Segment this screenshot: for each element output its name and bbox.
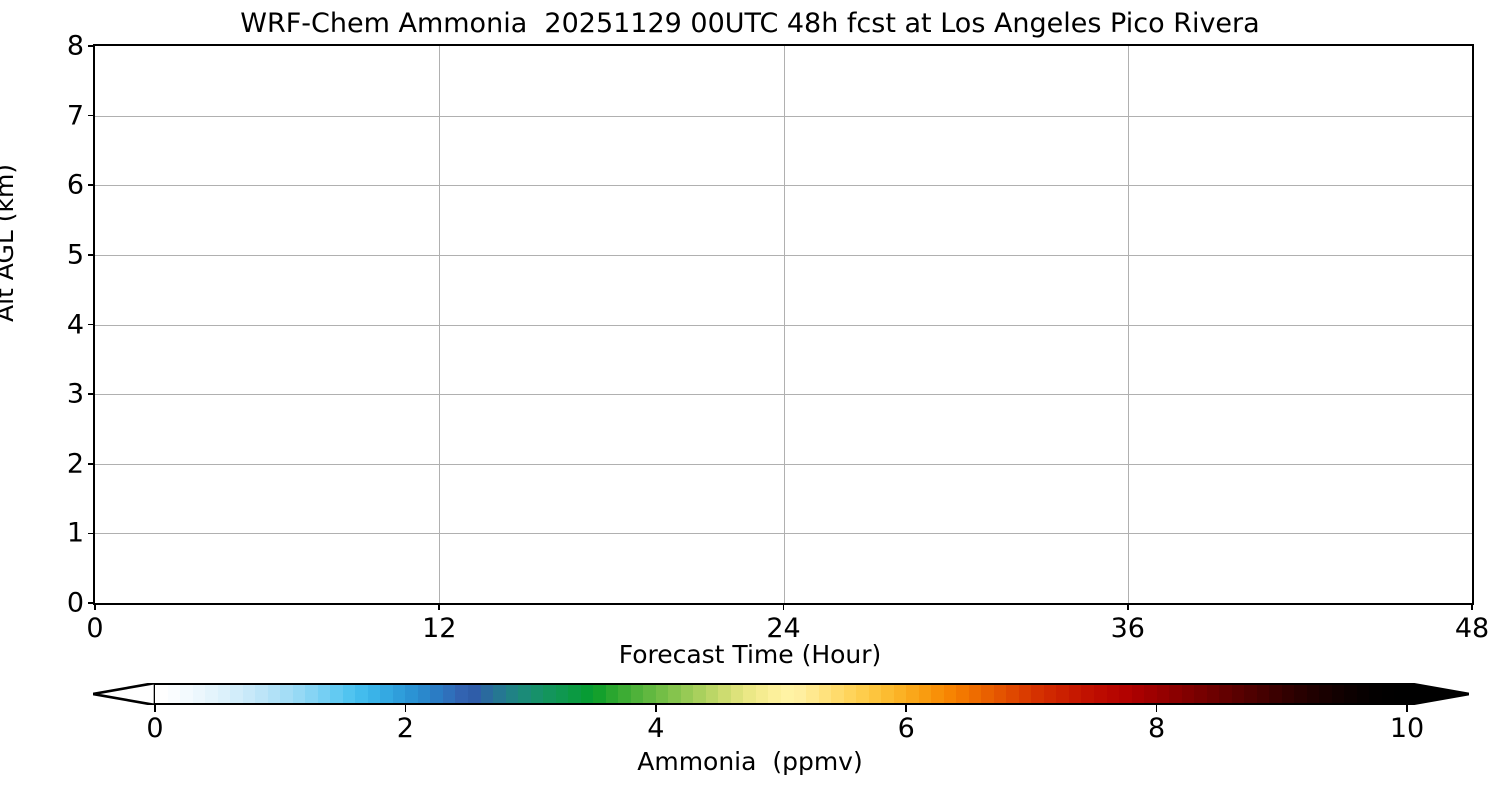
colorbar-segment (1044, 685, 1057, 703)
colorbar-segment (768, 685, 781, 703)
colorbar-segment (756, 685, 769, 703)
chart-title: WRF-Chem Ammonia 20251129 00UTC 48h fcst… (0, 8, 1500, 40)
colorbar-segment (1394, 685, 1407, 703)
colorbar-segment (1194, 685, 1207, 703)
x-tick-mark (94, 603, 96, 610)
y-tick-label: 0 (67, 590, 84, 617)
y-tick-mark (88, 184, 95, 186)
colorbar-segment (330, 685, 343, 703)
x-tick-label: 48 (1455, 614, 1489, 644)
colorbar-segment (506, 685, 519, 703)
x-tick-mark (1471, 603, 1473, 610)
y-tick-label: 1 (67, 520, 84, 547)
y-axis-label: Alt AGL (km) (0, 164, 17, 322)
plot-axes: 012345678 012243648 (93, 44, 1474, 605)
colorbar-segment (1069, 685, 1082, 703)
chart-figure: WRF-Chem Ammonia 20251129 00UTC 48h fcst… (0, 0, 1500, 800)
colorbar-tick-mark (655, 705, 657, 712)
colorbar-segment (593, 685, 606, 703)
colorbar-segment (944, 685, 957, 703)
colorbar-tick-mark (405, 705, 407, 712)
colorbar-segment (1244, 685, 1257, 703)
colorbar-segment (1144, 685, 1157, 703)
colorbar-segment (631, 685, 644, 703)
colorbar-segment (1169, 685, 1182, 703)
colorbar-extend-under-arrow (93, 683, 155, 705)
colorbar-segment (393, 685, 406, 703)
colorbar-segment (318, 685, 331, 703)
colorbar-tick-mark (1156, 705, 1158, 712)
gridline-vertical (1128, 46, 1129, 603)
x-axis-label: Forecast Time (Hour) (0, 641, 1500, 669)
y-tick-mark (88, 45, 95, 47)
colorbar-label: Ammonia (ppmv) (0, 748, 1500, 776)
colorbar-segment (1107, 685, 1120, 703)
colorbar-segment (806, 685, 819, 703)
colorbar-tick-label: 6 (898, 714, 915, 744)
colorbar-segment (205, 685, 218, 703)
colorbar-segment (468, 685, 481, 703)
colorbar-segment (681, 685, 694, 703)
x-tick-mark (438, 603, 440, 610)
colorbar-segment (906, 685, 919, 703)
colorbar-segment (168, 685, 181, 703)
colorbar-segment (994, 685, 1007, 703)
colorbar-segment (230, 685, 243, 703)
colorbar: 0246810 (93, 678, 1470, 712)
colorbar-tick-label: 0 (146, 714, 163, 744)
colorbar-segment (218, 685, 231, 703)
colorbar-segment (455, 685, 468, 703)
colorbar-segment (518, 685, 531, 703)
colorbar-segment (869, 685, 882, 703)
colorbar-segment (1344, 685, 1357, 703)
colorbar-segment (1294, 685, 1307, 703)
colorbar-segment (305, 685, 318, 703)
colorbar-segment (1357, 685, 1370, 703)
colorbar-segment (856, 685, 869, 703)
x-tick-label: 0 (86, 614, 103, 644)
colorbar-segment (380, 685, 393, 703)
colorbar-tick-mark (1406, 705, 1408, 712)
colorbar-segment (919, 685, 932, 703)
colorbar-tick-label: 8 (1148, 714, 1165, 744)
y-tick-mark (88, 254, 95, 256)
colorbar-segment (1132, 685, 1145, 703)
colorbar-segment (1382, 685, 1395, 703)
colorbar-segment (618, 685, 631, 703)
colorbar-segment (193, 685, 206, 703)
colorbar-segment (568, 685, 581, 703)
colorbar-segment (794, 685, 807, 703)
y-tick-mark (88, 463, 95, 465)
colorbar-segment (556, 685, 569, 703)
colorbar-segment (956, 685, 969, 703)
y-tick-label: 7 (67, 102, 84, 129)
colorbar-segment (931, 685, 944, 703)
colorbar-segment (268, 685, 281, 703)
plot-area (95, 46, 1472, 603)
colorbar-segment (1056, 685, 1069, 703)
colorbar-segment (581, 685, 594, 703)
x-tick-label: 12 (422, 614, 456, 644)
colorbar-segment (155, 685, 168, 703)
y-tick-mark (88, 324, 95, 326)
colorbar-segment (894, 685, 907, 703)
colorbar-gradient (155, 683, 1407, 705)
colorbar-segment (368, 685, 381, 703)
colorbar-segment (1232, 685, 1245, 703)
colorbar-segment (355, 685, 368, 703)
colorbar-segment (1369, 685, 1382, 703)
x-tick-mark (783, 603, 785, 610)
gridline-vertical (439, 46, 440, 603)
colorbar-segment (643, 685, 656, 703)
gridline-vertical (784, 46, 785, 603)
colorbar-segment (693, 685, 706, 703)
colorbar-segment (606, 685, 619, 703)
colorbar-segment (1182, 685, 1195, 703)
colorbar-segment (180, 685, 193, 703)
colorbar-segment (531, 685, 544, 703)
colorbar-segment (668, 685, 681, 703)
colorbar-segment (1019, 685, 1032, 703)
x-tick-mark (1127, 603, 1129, 610)
colorbar-segment (706, 685, 719, 703)
y-tick-label: 4 (67, 311, 84, 338)
colorbar-tick-label: 10 (1390, 714, 1424, 744)
colorbar-segment (430, 685, 443, 703)
colorbar-segment (1006, 685, 1019, 703)
colorbar-tick-mark (154, 705, 156, 712)
colorbar-segment (1207, 685, 1220, 703)
y-tick-label: 2 (67, 450, 84, 477)
colorbar-segment (731, 685, 744, 703)
colorbar-segment (493, 685, 506, 703)
colorbar-segment (881, 685, 894, 703)
y-tick-label: 5 (67, 241, 84, 268)
y-tick-mark (88, 115, 95, 117)
colorbar-segment (1081, 685, 1094, 703)
colorbar-segment (656, 685, 669, 703)
colorbar-segment (418, 685, 431, 703)
y-tick-label: 6 (67, 172, 84, 199)
colorbar-segment (831, 685, 844, 703)
colorbar-segment (781, 685, 794, 703)
colorbar-segment (969, 685, 982, 703)
y-tick-label: 8 (67, 33, 84, 60)
colorbar-tick-label: 4 (647, 714, 664, 744)
colorbar-segment (1031, 685, 1044, 703)
y-tick-mark (88, 393, 95, 395)
colorbar-segment (481, 685, 494, 703)
colorbar-segment (1157, 685, 1170, 703)
colorbar-segment (543, 685, 556, 703)
colorbar-segment (844, 685, 857, 703)
colorbar-segment (1119, 685, 1132, 703)
colorbar-segment (1282, 685, 1295, 703)
colorbar-extend-over-arrow (1407, 683, 1469, 705)
colorbar-segment (243, 685, 256, 703)
colorbar-segment (718, 685, 731, 703)
colorbar-tick-mark (905, 705, 907, 712)
colorbar-segment (343, 685, 356, 703)
colorbar-segment (743, 685, 756, 703)
colorbar-segment (280, 685, 293, 703)
colorbar-segment (1094, 685, 1107, 703)
colorbar-segment (293, 685, 306, 703)
colorbar-segment (819, 685, 832, 703)
colorbar-segment (255, 685, 268, 703)
x-tick-label: 36 (1111, 614, 1145, 644)
colorbar-segment (1269, 685, 1282, 703)
colorbar-segment (1332, 685, 1345, 703)
y-tick-mark (88, 533, 95, 535)
colorbar-segment (1307, 685, 1320, 703)
colorbar-segment (1219, 685, 1232, 703)
y-tick-label: 3 (67, 381, 84, 408)
colorbar-segment (443, 685, 456, 703)
colorbar-segment (405, 685, 418, 703)
colorbar-segment (981, 685, 994, 703)
colorbar-segment (1319, 685, 1332, 703)
colorbar-segment (1257, 685, 1270, 703)
colorbar-tick-label: 2 (397, 714, 414, 744)
